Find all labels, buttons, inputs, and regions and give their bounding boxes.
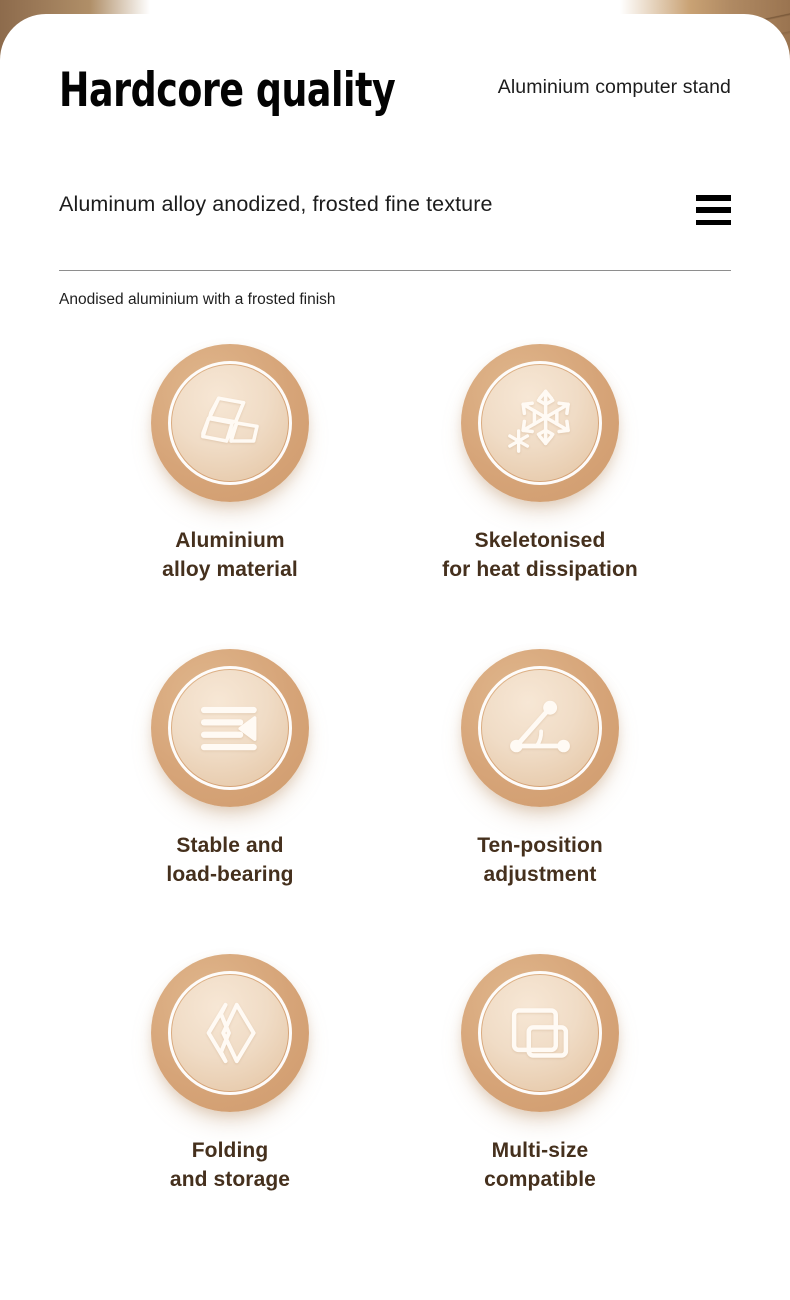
product-kicker: Aluminium computer stand bbox=[498, 76, 731, 99]
feature-item-heat-dissipation[interactable]: Skeletonised for heat dissipation bbox=[385, 344, 695, 584]
header: Hardcore quality Aluminium computer stan… bbox=[59, 64, 731, 134]
feature-label-line2: for heat dissipation bbox=[385, 555, 695, 584]
feature-item-stable-load-bearing[interactable]: Stable and load-bearing bbox=[75, 649, 385, 889]
feature-item-folding-storage[interactable]: Folding and storage bbox=[75, 954, 385, 1194]
badge-inner bbox=[172, 670, 288, 786]
feature-badge bbox=[151, 344, 309, 502]
section-caption: Anodised aluminium with a frosted finish bbox=[59, 291, 336, 309]
feature-label: Multi-size compatible bbox=[385, 1136, 695, 1194]
feature-item-multi-size-compatible[interactable]: Multi-size compatible bbox=[385, 954, 695, 1194]
stacked-bars-play-icon bbox=[194, 692, 266, 764]
feature-row: Stable and load-bearing bbox=[0, 649, 790, 954]
feature-row: Folding and storage Mul bbox=[0, 954, 790, 1259]
metal-ingots-icon bbox=[194, 387, 266, 459]
section-divider bbox=[59, 270, 731, 271]
badge-inner bbox=[482, 670, 598, 786]
feature-label-line2: alloy material bbox=[75, 555, 385, 584]
feature-badge bbox=[461, 649, 619, 807]
feature-badge bbox=[461, 344, 619, 502]
hamburger-menu-icon[interactable] bbox=[696, 195, 731, 225]
feature-badge bbox=[151, 649, 309, 807]
menu-bar-3 bbox=[696, 220, 731, 226]
feature-grid: Aluminium alloy material bbox=[0, 344, 790, 1259]
feature-label: Folding and storage bbox=[75, 1136, 385, 1194]
feature-row: Aluminium alloy material bbox=[0, 344, 790, 649]
feature-label-line1: Ten-position bbox=[477, 834, 603, 857]
subtitle-row: Aluminum alloy anodized, frosted fine te… bbox=[59, 192, 731, 232]
feature-label: Ten-position adjustment bbox=[385, 831, 695, 889]
feature-label-line1: Aluminium bbox=[175, 529, 284, 552]
menu-bar-1 bbox=[696, 195, 731, 201]
snowflake-icon bbox=[504, 387, 576, 459]
feature-label-line1: Folding bbox=[192, 1139, 269, 1162]
page-title: Hardcore quality bbox=[59, 64, 395, 118]
feature-label-line2: load-bearing bbox=[75, 860, 385, 889]
badge-inner bbox=[482, 365, 598, 481]
badge-inner bbox=[172, 365, 288, 481]
feature-label: Skeletonised for heat dissipation bbox=[385, 526, 695, 584]
feature-label-line1: Multi-size bbox=[492, 1139, 589, 1162]
feature-label: Aluminium alloy material bbox=[75, 526, 385, 584]
feature-label-line2: compatible bbox=[385, 1165, 695, 1194]
feature-item-ten-position-adjustment[interactable]: Ten-position adjustment bbox=[385, 649, 695, 889]
badge-inner bbox=[172, 975, 288, 1091]
content-card: Hardcore quality Aluminium computer stan… bbox=[0, 14, 790, 1300]
feature-badge bbox=[151, 954, 309, 1112]
overlapping-screens-icon bbox=[504, 997, 576, 1069]
page-subtitle: Aluminum alloy anodized, frosted fine te… bbox=[59, 192, 493, 217]
feature-item-aluminium-alloy[interactable]: Aluminium alloy material bbox=[75, 344, 385, 584]
feature-label-line2: and storage bbox=[75, 1165, 385, 1194]
feature-label-line1: Skeletonised bbox=[475, 529, 606, 552]
feature-label-line1: Stable and bbox=[176, 834, 283, 857]
menu-bar-2 bbox=[696, 207, 731, 213]
angle-adjustment-icon bbox=[504, 692, 576, 764]
feature-label-line2: adjustment bbox=[385, 860, 695, 889]
badge-inner bbox=[482, 975, 598, 1091]
feature-label: Stable and load-bearing bbox=[75, 831, 385, 889]
folding-diamond-icon bbox=[194, 997, 266, 1069]
feature-badge bbox=[461, 954, 619, 1112]
